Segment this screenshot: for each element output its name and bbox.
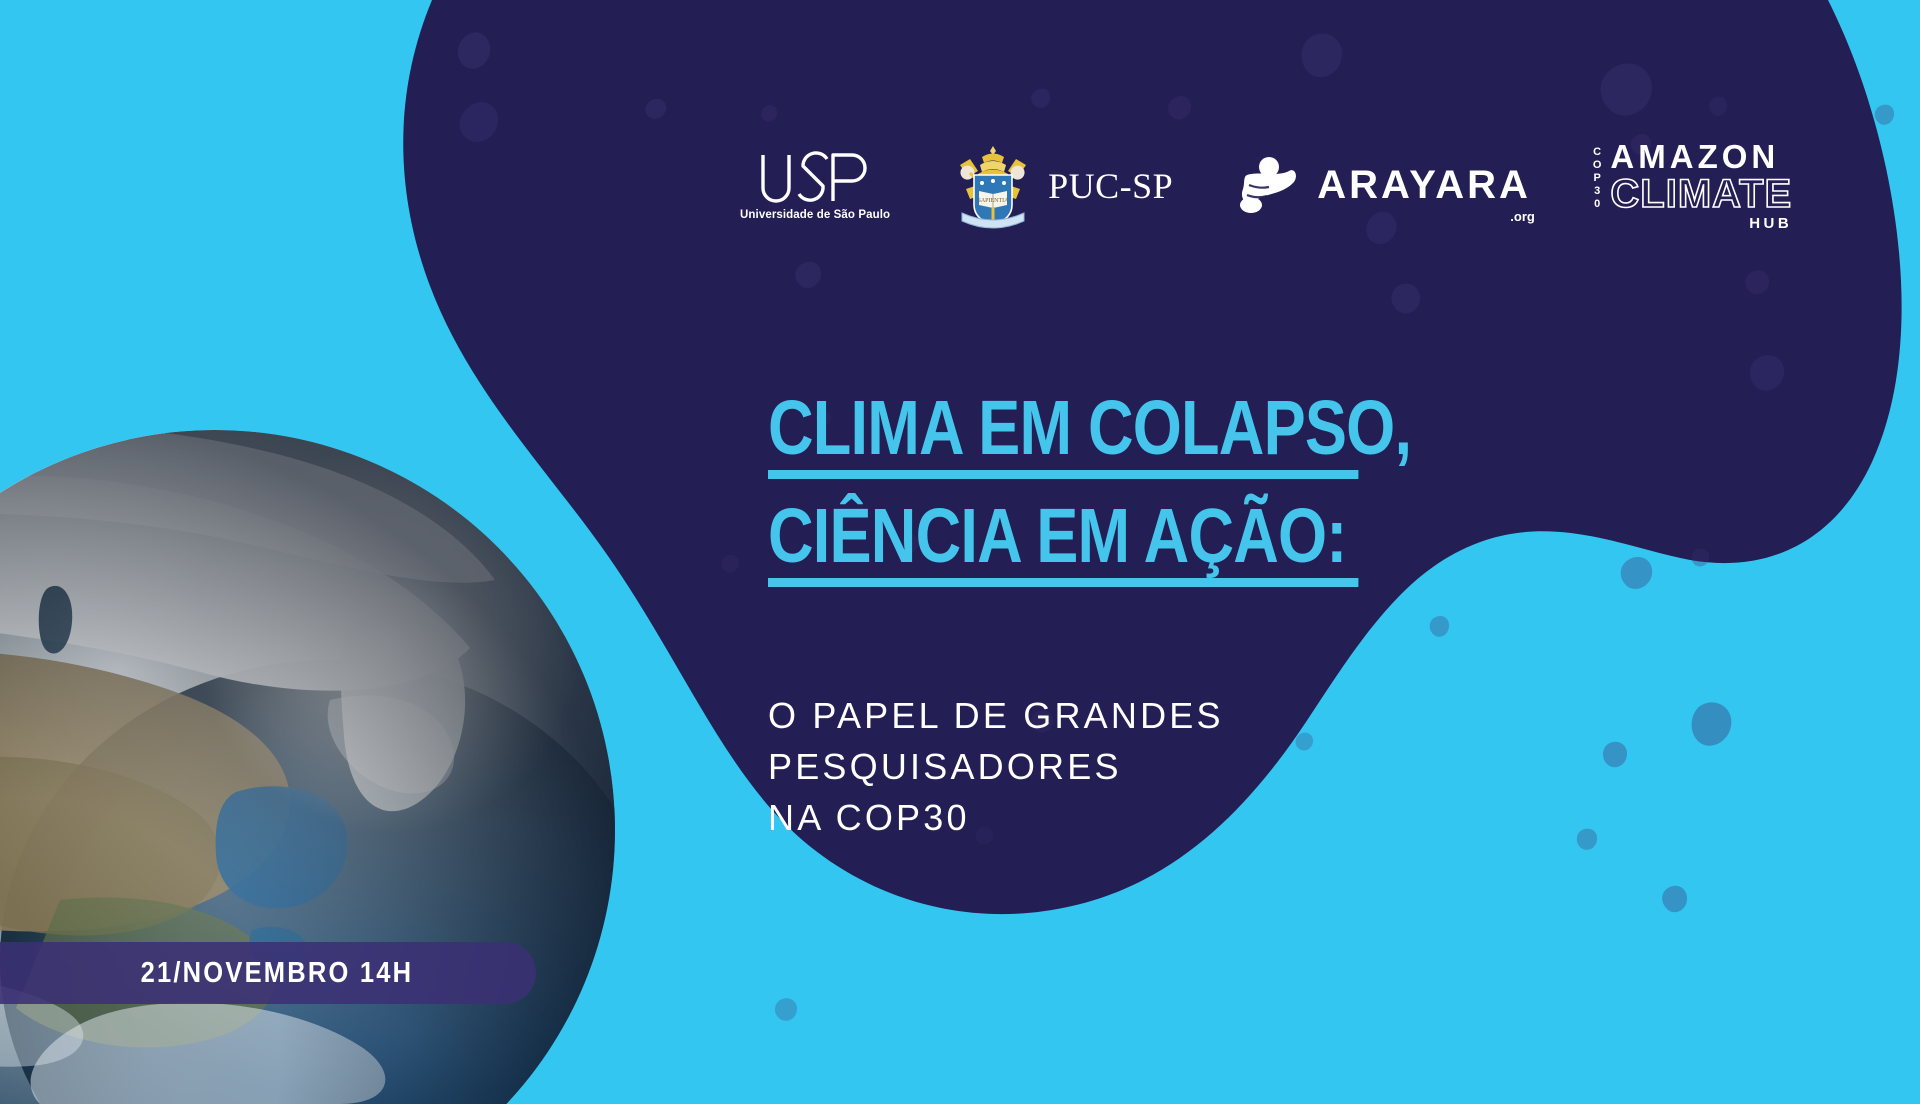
amazon-climate-hub-logo[interactable]: COP30 AMAZON CLIMATE HUB <box>1593 140 1792 231</box>
usp-monogram-icon <box>757 150 873 206</box>
cop30-letter: O <box>1593 159 1602 172</box>
cop30-vertical-label: COP30 <box>1593 140 1602 231</box>
date-badge: 21/NOVEMBRO 14H <box>0 942 536 1004</box>
puc-sp-logo[interactable]: SAPIENTIA PUC-SP <box>952 143 1173 229</box>
partner-logos: Universidade de São Paulo <box>740 140 1792 231</box>
climate-line: CLIMATE <box>1610 174 1792 214</box>
svg-text:SAPIENTIA: SAPIENTIA <box>978 198 1010 204</box>
usp-subtitle: Universidade de São Paulo <box>740 209 890 221</box>
date-badge-label: 21/NOVEMBRO 14H <box>141 957 414 990</box>
hub-line: HUB <box>1610 216 1792 231</box>
amazon-line: AMAZON <box>1610 140 1792 173</box>
arayara-wordmark: ARAYARA <box>1317 163 1531 207</box>
poster-canvas: Universidade de São Paulo <box>0 0 1920 1104</box>
arayara-figure-icon <box>1235 155 1301 217</box>
amazon-climate-hub-wordmark: AMAZON CLIMATE HUB <box>1610 140 1792 231</box>
puc-sp-wordmark: PUC-SP <box>1048 165 1173 207</box>
cop30-letter: P <box>1593 172 1602 185</box>
cop30-letter: 0 <box>1593 198 1602 211</box>
page-subtitle: O PAPEL DE GRANDES PESQUISADORES NA COP3… <box>768 690 1224 843</box>
arayara-wordmark-block: ARAYARA .org <box>1317 163 1531 208</box>
page-title: CLIMA EM COLAPSO, CIÊNCIA EM AÇÃO: <box>768 392 1488 608</box>
cop30-letter: C <box>1593 146 1602 159</box>
arayara-logo[interactable]: ARAYARA .org <box>1235 155 1531 217</box>
cop30-letter: 3 <box>1593 185 1602 198</box>
headline-line-1: CLIMA EM COLAPSO, <box>768 392 1358 466</box>
usp-logo[interactable]: Universidade de São Paulo <box>740 150 890 221</box>
headline-line-2: CIÊNCIA EM AÇÃO: <box>768 500 1358 574</box>
puc-coat-of-arms-icon: SAPIENTIA <box>952 143 1034 229</box>
arayara-domain: .org <box>1510 209 1535 224</box>
